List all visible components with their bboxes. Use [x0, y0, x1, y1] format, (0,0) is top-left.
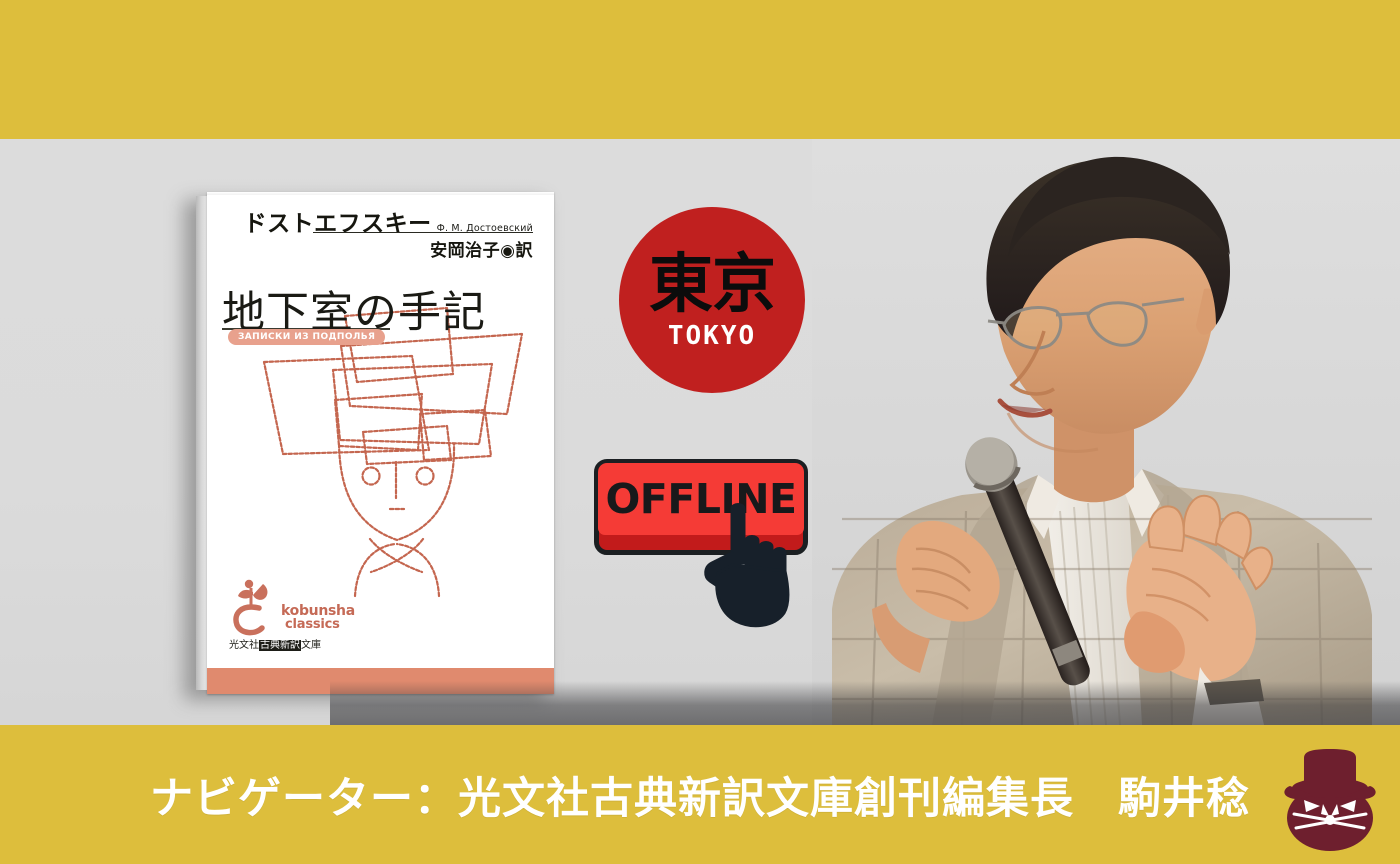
publisher-logo-line2: classics	[281, 618, 355, 631]
tokyo-roman-label: TOKYO	[668, 321, 756, 351]
tokyo-badge: 東京 TOKYO	[619, 207, 805, 393]
tokyo-kanji-label: 東京	[649, 253, 775, 317]
book-imprint: 光文社古典新訳文庫	[229, 636, 321, 651]
book-cover: ドストエフスキーФ. М. Достоевский 安岡治子◉訳	[196, 192, 554, 694]
imprint-highlight: 古典新訳	[259, 640, 301, 651]
pointing-hand-cursor-icon	[698, 501, 802, 633]
book-bottom-band	[207, 668, 554, 694]
photo-area: ドストエフスキーФ. М. Достоевский 安岡治子◉訳	[0, 139, 1400, 725]
publisher-logo: kobunsha classics 光文社古典新訳文庫	[229, 578, 359, 656]
book-author-rule	[313, 232, 533, 233]
kobunsha-sprout-icon	[229, 578, 289, 636]
book-subtitle-badge: ЗАПИСКИ ИЗ ПОДПОЛЬЯ	[228, 329, 385, 345]
slide-canvas: ドストエフスキーФ. М. Достоевский 安岡治子◉訳	[0, 0, 1400, 864]
imprint-suffix: 文庫	[301, 640, 321, 651]
top-yellow-band	[0, 0, 1400, 139]
book-top-edge	[207, 192, 554, 195]
imprint-prefix: 光文社	[229, 640, 259, 651]
publisher-logo-wordmark: kobunsha classics	[281, 604, 355, 632]
book-front-face: ドストエフスキーФ. М. Достоевский 安岡治子◉訳	[207, 192, 554, 694]
offline-button-graphic[interactable]: OFFLINE	[594, 459, 808, 571]
caption-bar: ナビゲーター：光文社古典新訳文庫創刊編集長 駒井稔	[0, 725, 1400, 864]
presenter-photo	[812, 139, 1400, 725]
cat-in-top-hat-logo-icon	[1270, 744, 1390, 856]
caption-text: ナビゲーター：光文社古典新訳文庫創刊編集長 駒井稔	[150, 764, 1250, 826]
publisher-logo-line1: kobunsha	[281, 604, 355, 618]
